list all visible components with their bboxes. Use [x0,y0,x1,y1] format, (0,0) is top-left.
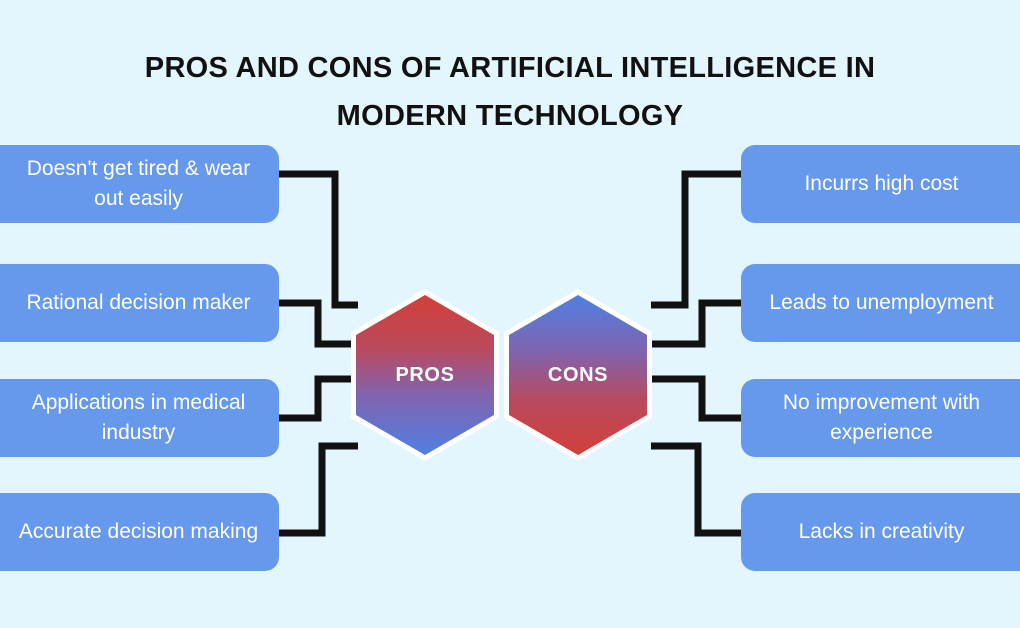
cons-item-4-label: Lacks in creativity [799,517,965,547]
hub-cons-label: CONS [548,364,608,387]
cons-item-3-label: No improvement with experience [759,388,1004,448]
connector-pros-2 [279,303,358,344]
connector-cons-4 [651,446,741,533]
connector-pros-3 [279,379,358,418]
connector-pros-4 [279,446,358,533]
cons-item-1-label: Incurrs high cost [804,169,958,199]
pros-item-3-label: Applications in medical industry [16,388,261,448]
pros-item-4[interactable]: Accurate decision making [0,493,279,571]
pros-item-2[interactable]: Rational decision maker [0,264,279,342]
pros-item-2-label: Rational decision maker [26,288,250,318]
connector-cons-2 [651,303,741,344]
hub-pros-label: PROS [395,364,454,387]
cons-item-4[interactable]: Lacks in creativity [741,493,1020,571]
pros-item-3[interactable]: Applications in medical industry [0,379,279,457]
cons-item-1[interactable]: Incurrs high cost [741,145,1020,223]
cons-item-2-label: Leads to unemployment [769,288,993,318]
pros-item-1-label: Doesn't get tired & wear out easily [16,154,261,214]
pros-item-4-label: Accurate decision making [19,517,258,547]
pros-item-1[interactable]: Doesn't get tired & wear out easily [0,145,279,223]
diagram-canvas: PROS AND CONS OF ARTIFICIAL INTELLIGENCE… [0,0,1020,628]
cons-item-3[interactable]: No improvement with experience [741,379,1020,457]
connector-cons-3 [651,379,741,418]
hub-cons[interactable]: CONS [504,289,652,461]
connector-pros-1 [279,174,358,305]
cons-item-2[interactable]: Leads to unemployment [741,264,1020,342]
hub-pros[interactable]: PROS [351,289,499,461]
connector-cons-1 [651,174,741,305]
